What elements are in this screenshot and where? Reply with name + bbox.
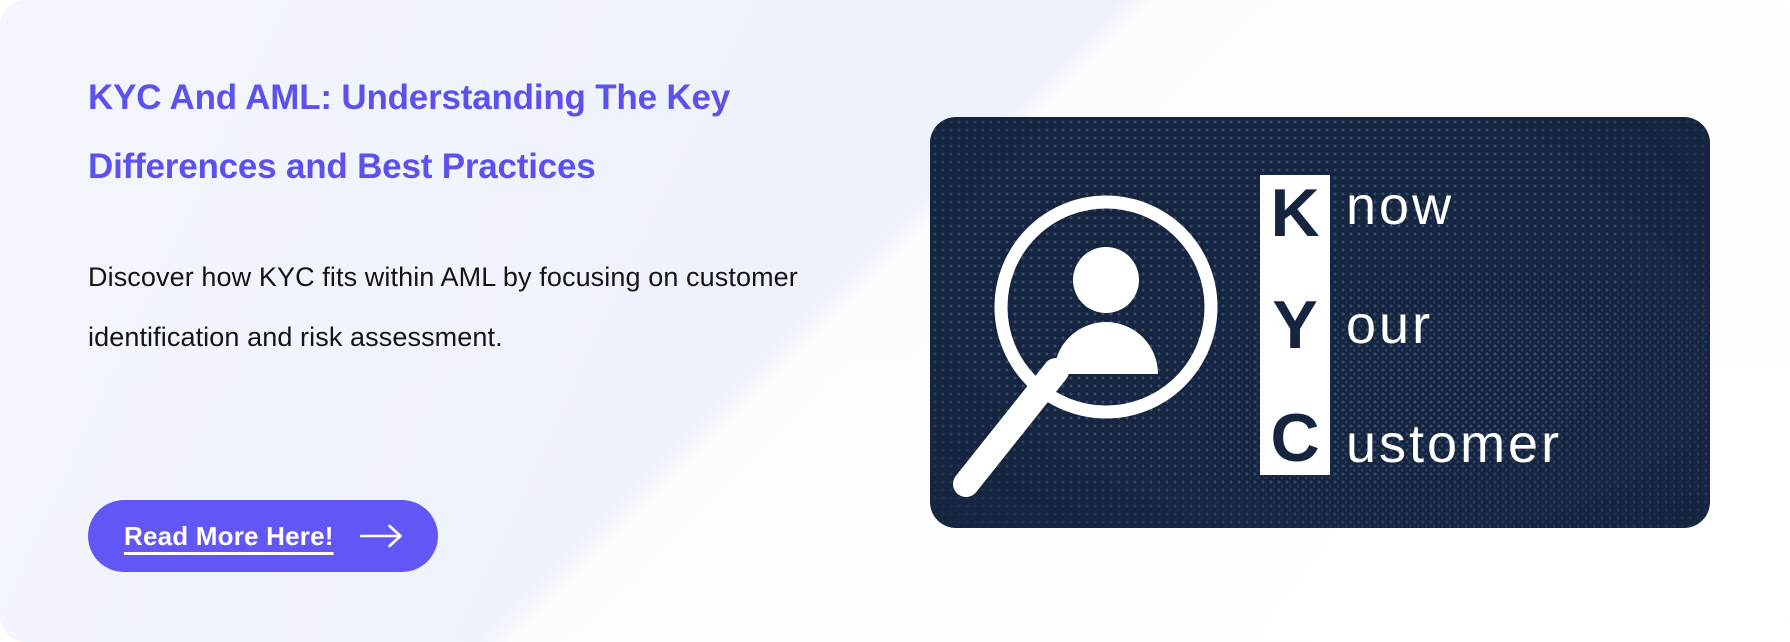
kyc-word-now: now [1330,181,1562,233]
promo-text-column: KYC And AML: Understanding The Key Diffe… [88,64,828,368]
read-more-button[interactable]: Read More Here! [88,500,438,572]
promo-banner-card: KYC And AML: Understanding The Key Diffe… [0,0,1790,642]
kyc-words-column: now our ustomer [1330,175,1562,475]
arrow-right-icon [360,523,404,549]
kyc-illustration-card: K Y C now our ustomer [930,117,1710,528]
kyc-initials-bar: K Y C [1260,175,1330,475]
kyc-initial-c: C [1260,406,1330,471]
kyc-text-lockup: K Y C now our ustomer [1260,175,1562,475]
kyc-word-ustomer: ustomer [1330,419,1562,471]
kyc-word-our: our [1330,300,1562,352]
person-icon [1073,247,1139,313]
magnifying-glass-person-icon [930,135,1260,515]
page-title: KYC And AML: Understanding The Key Diffe… [88,64,828,202]
read-more-label: Read More Here! [124,521,334,552]
kyc-initial-k: K [1260,181,1330,246]
promo-description: Discover how KYC fits within AML by focu… [88,202,828,368]
kyc-initial-y: Y [1260,293,1330,358]
